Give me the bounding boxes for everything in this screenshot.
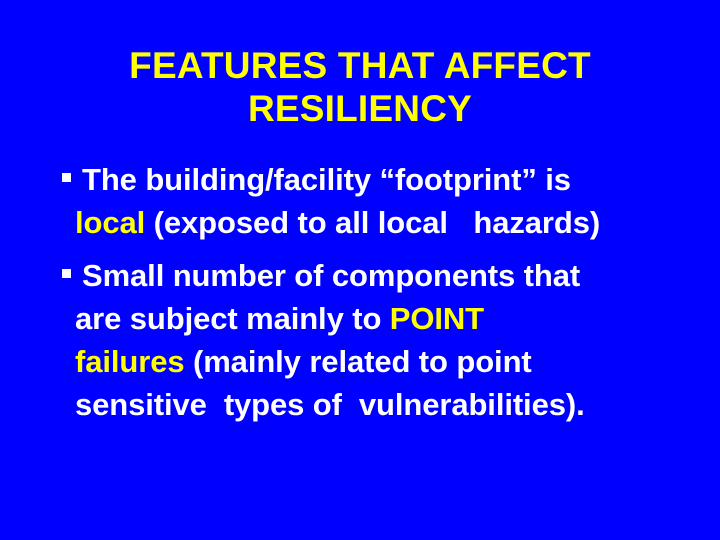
bullet-line: are subject mainly to POINT	[75, 297, 708, 340]
bullet-line: failures (mainly related to point	[75, 340, 708, 383]
bullet-item: Small number of components thatare subje…	[60, 254, 708, 426]
bullet-line: The building/facility “footprint” is	[82, 158, 708, 201]
slide-body: The building/facility “footprint” isloca…	[60, 158, 708, 426]
plain-text: Small number of components that	[82, 258, 580, 293]
bullet-line: Small number of components that	[82, 254, 708, 297]
plain-text: are subject mainly to	[75, 301, 390, 336]
plain-text: (exposed to all local hazards)	[145, 205, 600, 240]
bullet-text: The building/facility “footprint” isloca…	[82, 158, 708, 244]
slide-title-line-1: FEATURES THAT AFFECT	[40, 44, 680, 87]
highlighted-text: failures	[75, 344, 184, 379]
highlighted-text: POINT	[390, 301, 484, 336]
plain-text: (mainly related to point	[184, 344, 531, 379]
plain-text: sensitive types of vulnerabilities).	[75, 387, 585, 422]
bullet-line: local (exposed to all local hazards)	[75, 201, 708, 244]
square-bullet-icon	[62, 269, 71, 278]
plain-text: The building/facility “footprint” is	[82, 162, 571, 197]
slide-title: FEATURES THAT AFFECT RESILIENCY	[40, 44, 680, 130]
bullet-text: Small number of components thatare subje…	[82, 254, 708, 426]
square-bullet-icon	[62, 173, 71, 182]
bullet-item: The building/facility “footprint” isloca…	[60, 158, 708, 244]
slide-title-line-2: RESILIENCY	[40, 87, 680, 130]
bullet-line: sensitive types of vulnerabilities).	[75, 383, 708, 426]
highlighted-text: local	[75, 205, 145, 240]
presentation-slide: FEATURES THAT AFFECT RESILIENCY The buil…	[0, 0, 720, 540]
